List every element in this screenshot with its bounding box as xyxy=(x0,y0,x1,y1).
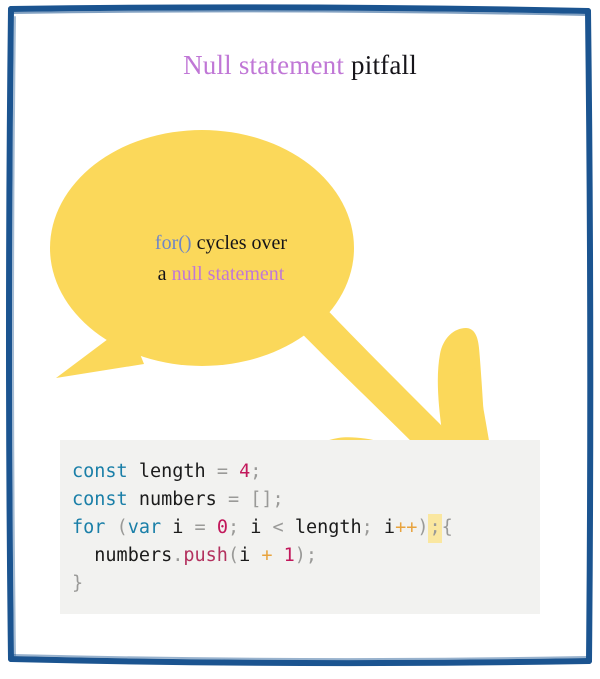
code-token: ++ xyxy=(395,517,417,538)
code-token: push xyxy=(183,545,228,566)
code-line: const length = 4; xyxy=(72,461,261,482)
code-token: ; xyxy=(228,517,239,538)
code-token: numbers xyxy=(139,489,217,510)
code-token xyxy=(72,545,94,566)
bubble-line-2-lead: a xyxy=(158,263,172,285)
code-line: } xyxy=(72,573,83,594)
code-token xyxy=(273,545,284,566)
code-line: for (var i = 0; i < length; i++);{ xyxy=(72,514,453,543)
code-token xyxy=(261,517,272,538)
code-token xyxy=(373,517,384,538)
code-token xyxy=(183,517,194,538)
code-token: 1 xyxy=(284,545,295,566)
code-line: const numbers = []; xyxy=(72,489,284,510)
page-title-rest: pitfall xyxy=(344,50,417,80)
code-token: const xyxy=(72,461,128,482)
code-token: = xyxy=(217,461,228,482)
code-token: ; xyxy=(362,517,373,538)
code-token xyxy=(128,461,139,482)
highlighted-semicolon: ; xyxy=(428,514,441,543)
code-token: length xyxy=(295,517,362,538)
slide-canvas: Null statement pitfall for() cycles over… xyxy=(0,0,600,679)
code-snippet-text: const length = 4; const numbers = []; fo… xyxy=(72,458,453,598)
code-token: ); xyxy=(295,545,317,566)
code-token: = xyxy=(195,517,206,538)
code-token: i xyxy=(384,517,395,538)
code-token xyxy=(161,517,172,538)
code-token: var xyxy=(128,517,161,538)
code-snippet-block: const length = 4; const numbers = []; fo… xyxy=(60,440,540,614)
code-token: length xyxy=(139,461,206,482)
code-token: ( xyxy=(228,545,239,566)
speech-bubble-text: for() cycles over a null statement xyxy=(96,228,346,290)
bubble-line-1-text: cycles over xyxy=(192,232,288,254)
code-token xyxy=(284,517,295,538)
bubble-line-2-emphasis: null statement xyxy=(172,263,285,285)
code-token xyxy=(217,489,228,510)
code-token: const xyxy=(72,489,128,510)
code-token: ; xyxy=(250,461,261,482)
code-token: ( xyxy=(117,517,128,538)
code-token: numbers xyxy=(94,545,172,566)
code-token: i xyxy=(239,545,250,566)
code-token: } xyxy=(72,573,83,594)
code-token: ) xyxy=(417,517,428,538)
code-token xyxy=(250,545,261,566)
page-title-highlight: Null statement xyxy=(183,50,344,80)
code-token: i xyxy=(172,517,183,538)
code-token xyxy=(239,489,250,510)
code-token: { xyxy=(442,517,453,538)
code-token xyxy=(239,517,250,538)
code-token: for xyxy=(72,517,105,538)
code-token xyxy=(206,461,217,482)
code-token xyxy=(128,489,139,510)
code-token: []; xyxy=(250,489,283,510)
code-token xyxy=(206,517,217,538)
page-title: Null statement pitfall xyxy=(0,48,600,82)
bubble-line-1-code: for() xyxy=(155,232,192,254)
bubble-line-1: for() cycles over xyxy=(96,228,346,259)
code-token: + xyxy=(261,545,272,566)
code-token: i xyxy=(250,517,261,538)
code-token: 0 xyxy=(217,517,228,538)
code-line: numbers.push(i + 1); xyxy=(72,545,317,566)
code-token: 4 xyxy=(239,461,250,482)
bubble-line-2: a null statement xyxy=(96,259,346,290)
code-token: . xyxy=(172,545,183,566)
code-token: = xyxy=(228,489,239,510)
code-token xyxy=(228,461,239,482)
code-token: < xyxy=(273,517,284,538)
code-token xyxy=(105,517,116,538)
